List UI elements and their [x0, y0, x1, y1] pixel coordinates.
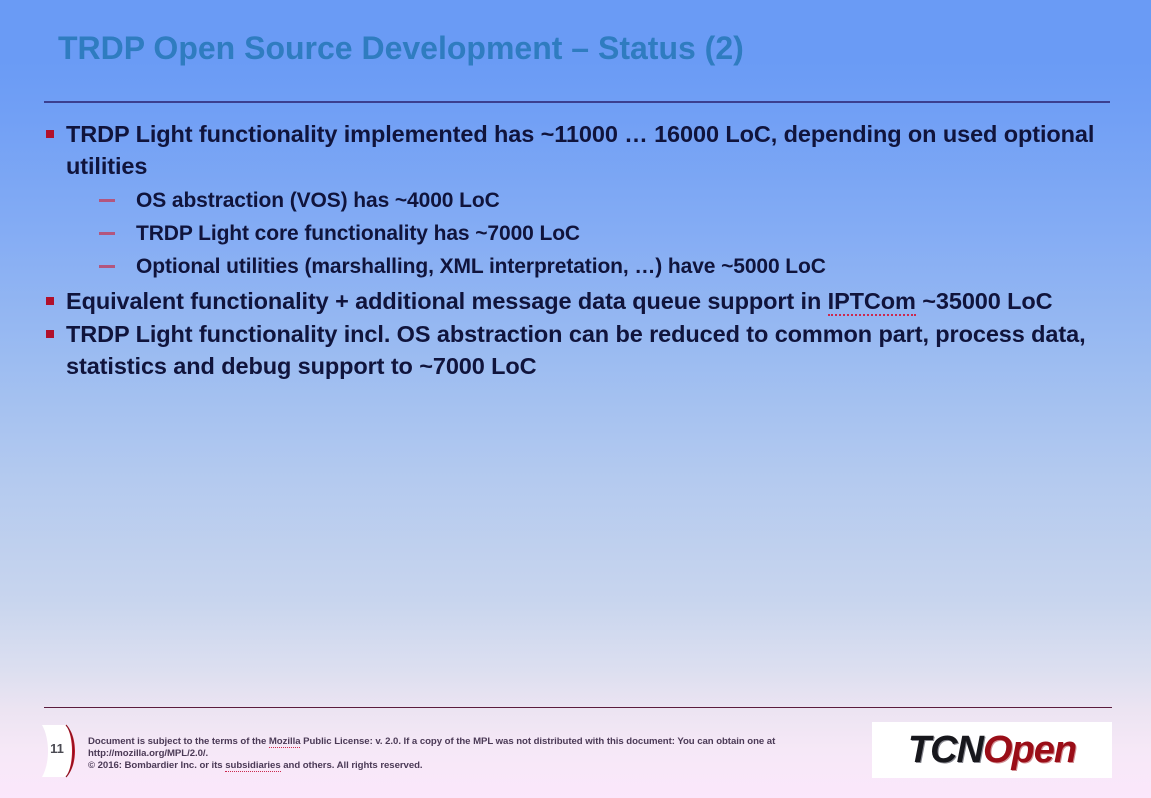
- bullet-text-before: Equivalent functionality + additional me…: [66, 288, 828, 314]
- square-bullet-icon: [46, 130, 54, 138]
- square-bullet-icon: [46, 297, 54, 305]
- sub-bullet-group: OS abstraction (VOS) has ~4000 LoC TRDP …: [44, 184, 1114, 283]
- page-title: TRDP Open Source Development – Status (2…: [58, 30, 1118, 67]
- sub-bullet-item: TRDP Light core functionality has ~7000 …: [44, 217, 1114, 250]
- legal-line2: © 2016: Bombardier Inc. or its subsidiar…: [88, 760, 878, 772]
- square-bullet-icon: [46, 330, 54, 338]
- page-number-badge: 11: [40, 723, 86, 779]
- bullet-text: TRDP Light functionality implemented has…: [66, 121, 1094, 179]
- logo-open-text: Open: [983, 729, 1076, 771]
- sub-bullet-text: OS abstraction (VOS) has ~4000 LoC: [136, 189, 500, 212]
- bullet-text-after: ~35000 LoC: [916, 288, 1053, 314]
- page-number-text: 11: [40, 741, 74, 756]
- tcn-open-logo: TCNOpen: [872, 722, 1112, 778]
- dash-bullet-icon: [99, 232, 115, 235]
- sub-bullet-item: OS abstraction (VOS) has ~4000 LoC: [44, 184, 1114, 217]
- footer-divider: [44, 707, 1112, 708]
- title-divider: [44, 101, 1110, 103]
- legal-line2-after: and others. All rights reserved.: [281, 760, 423, 771]
- logo-tcn-text: TCN: [908, 729, 983, 771]
- bullet-item: TRDP Light functionality incl. OS abstra…: [44, 318, 1114, 382]
- misspelled-word: IPTCom: [828, 288, 916, 316]
- misspelled-word: subsidiaries: [225, 760, 280, 772]
- dash-bullet-icon: [99, 265, 115, 268]
- legal-line2-before: © 2016: Bombardier Inc. or its: [88, 760, 225, 771]
- sub-bullet-item: Optional utilities (marshalling, XML int…: [44, 250, 1114, 283]
- bullet-text: TRDP Light functionality incl. OS abstra…: [66, 321, 1086, 379]
- sub-bullet-text: Optional utilities (marshalling, XML int…: [136, 255, 826, 278]
- misspelled-word: Mozilla: [269, 736, 301, 748]
- legal-line1-before: Document is subject to the terms of the: [88, 736, 269, 747]
- slide-canvas: TRDP Open Source Development – Status (2…: [0, 0, 1151, 798]
- logo-text: TCNOpen: [908, 729, 1076, 772]
- bullet-item: Equivalent functionality + additional me…: [44, 285, 1114, 317]
- dash-bullet-icon: [99, 199, 115, 202]
- legal-text: Document is subject to the terms of the …: [88, 736, 878, 772]
- sub-bullet-text: TRDP Light core functionality has ~7000 …: [136, 222, 580, 245]
- bullet-item: TRDP Light functionality implemented has…: [44, 118, 1114, 182]
- slide-body: TRDP Light functionality implemented has…: [44, 118, 1114, 383]
